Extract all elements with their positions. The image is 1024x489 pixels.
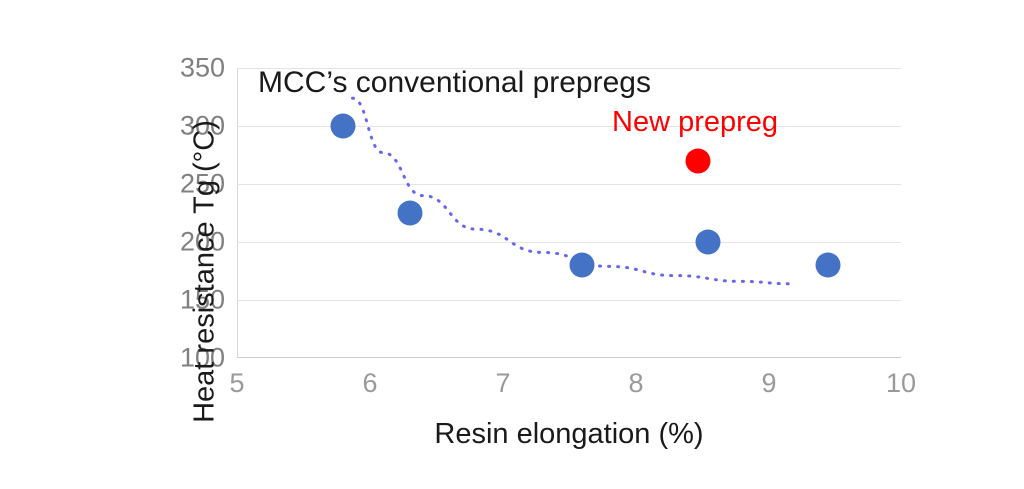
plot-area — [237, 68, 901, 358]
x-tick-7: 7 — [473, 370, 533, 397]
x-tick-5: 5 — [207, 370, 267, 397]
x-tick-10: 10 — [871, 370, 931, 397]
chart-figure: 350 300 250 200 150 100 Heat resistance … — [0, 0, 1024, 489]
data-point-conventional-3 — [696, 230, 721, 255]
annotation-new-prepreg: New prepreg — [612, 106, 778, 139]
gridline-150 — [237, 300, 901, 301]
x-tick-9: 9 — [739, 370, 799, 397]
y-axis-line — [237, 68, 238, 358]
x-tick-8: 8 — [606, 370, 666, 397]
x-axis-line — [237, 357, 901, 358]
data-point-conventional-4 — [815, 253, 840, 278]
annotation-conventional-prepregs: MCC’s conventional prepregs — [258, 66, 651, 100]
y-axis-title-wrapper: Heat resistance Tg (°C) — [120, 55, 165, 385]
data-point-conventional-2 — [570, 253, 595, 278]
data-point-conventional-1 — [397, 201, 422, 226]
data-point-conventional-0 — [331, 114, 356, 139]
data-point-new-0 — [685, 148, 710, 173]
x-tick-6: 6 — [340, 370, 400, 397]
x-axis-tick-labels: 5 6 7 8 9 10 — [0, 370, 1024, 410]
trendline-dotted — [237, 68, 901, 358]
gridline-250 — [237, 184, 901, 185]
gridline-200 — [237, 242, 901, 243]
x-axis-title: Resin elongation (%) — [237, 418, 901, 451]
